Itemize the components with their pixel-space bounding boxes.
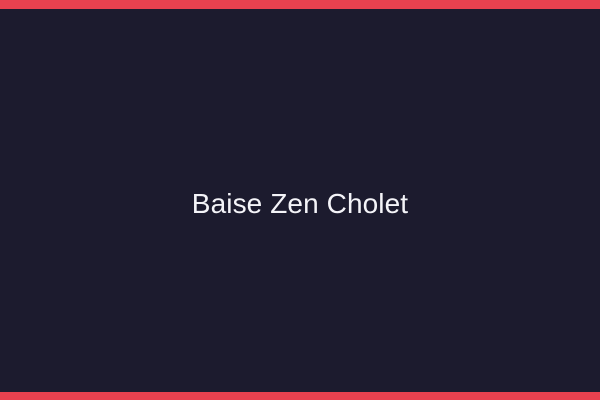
top-accent-bar	[0, 0, 600, 9]
placeholder-card: Baise Zen Cholet	[0, 0, 600, 400]
placeholder-content-area: Baise Zen Cholet	[0, 9, 600, 392]
bottom-accent-bar	[0, 392, 600, 400]
placeholder-title: Baise Zen Cholet	[192, 187, 408, 221]
